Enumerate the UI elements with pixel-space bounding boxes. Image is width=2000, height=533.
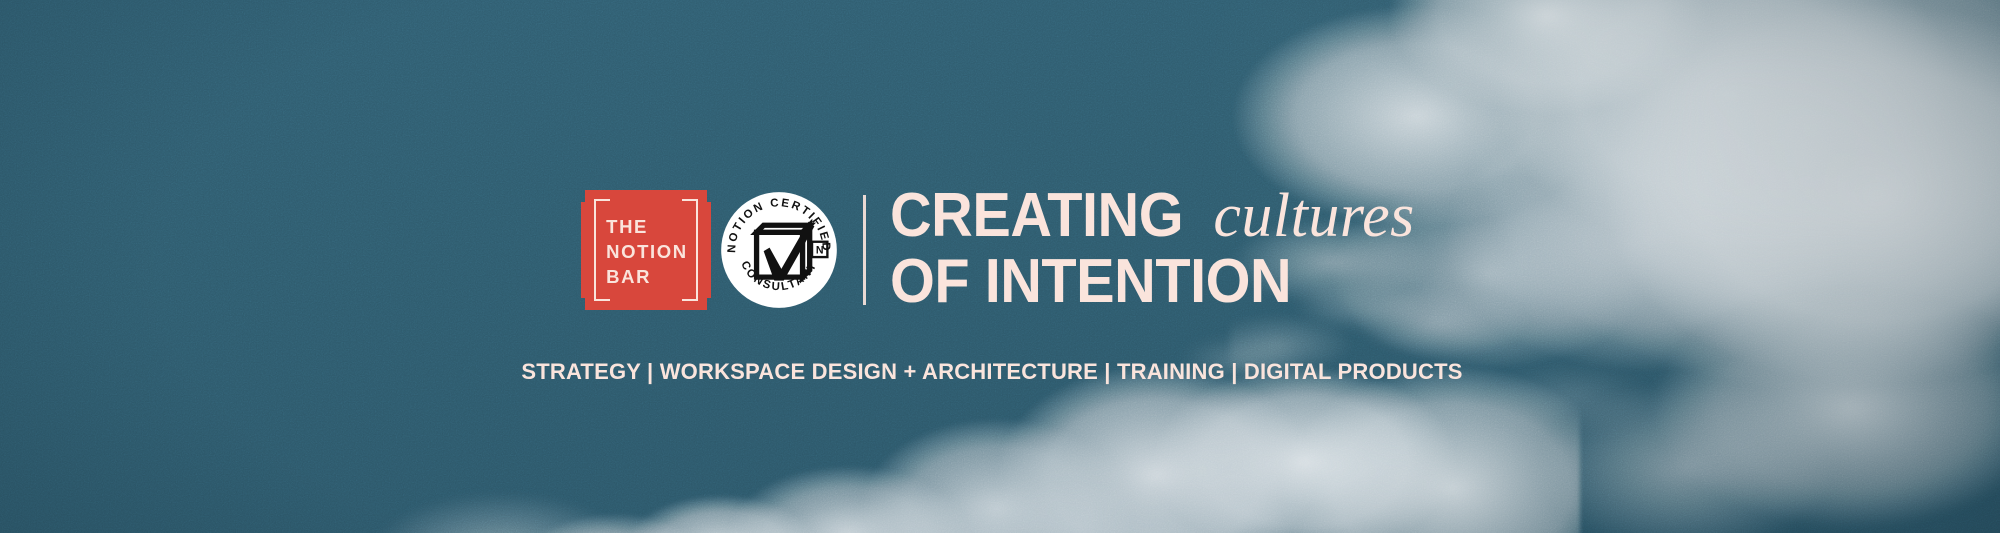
service-tagline: STRATEGY | WORKSPACE DESIGN + ARCHITECTU… bbox=[521, 359, 1462, 385]
logomark-line-1: THE bbox=[606, 214, 695, 239]
headline-line-1: CREATING cultures bbox=[890, 185, 1415, 247]
logomark-line-3: BAR bbox=[606, 264, 695, 289]
headline-block: CREATING cultures OF INTENTION bbox=[890, 185, 1415, 315]
headline-creating: CREATING bbox=[890, 185, 1183, 247]
notion-certified-consultant-badge: N NOTION CERTIFIED CONSULTANT bbox=[720, 191, 838, 309]
hero-banner: THE NOTION BAR bbox=[0, 0, 2000, 533]
headline-cultures-script: cultures bbox=[1213, 185, 1414, 247]
logomark-line-2: NOTION bbox=[606, 239, 695, 264]
vertical-divider bbox=[863, 195, 866, 305]
brand-lockup: THE NOTION BAR bbox=[0, 0, 2000, 533]
notion-bar-logomark: THE NOTION BAR bbox=[585, 190, 707, 310]
headline-line-2: OF INTENTION bbox=[890, 249, 1378, 315]
logomark-text: THE NOTION BAR bbox=[606, 214, 695, 289]
lockup-row: THE NOTION BAR bbox=[585, 185, 1415, 315]
